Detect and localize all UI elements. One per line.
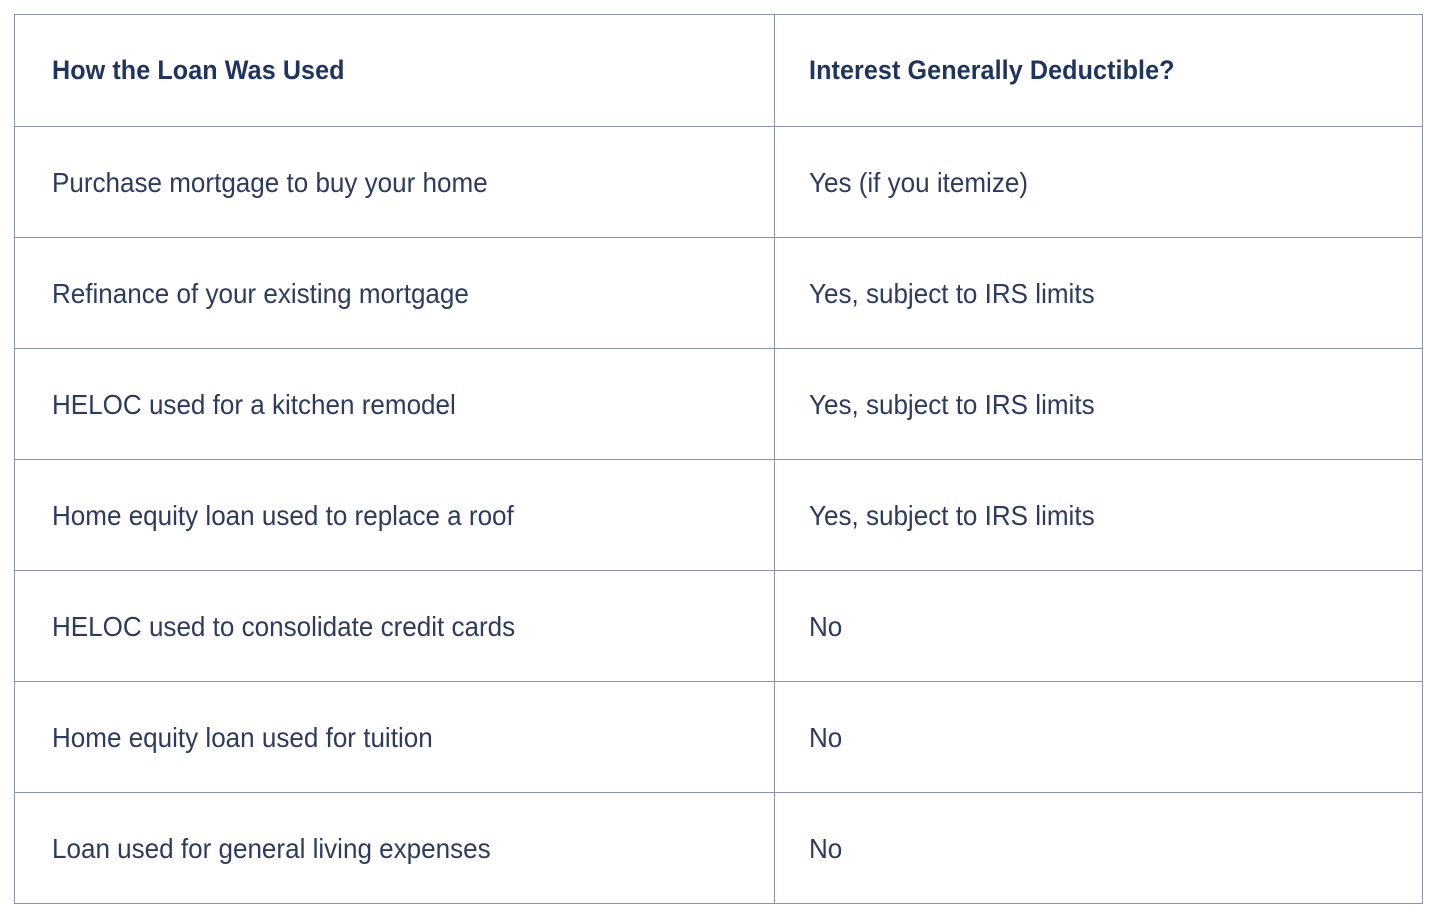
cell-deductible-answer: Yes, subject to IRS limits <box>775 460 1423 571</box>
cell-loan-use: Home equity loan used to replace a roof <box>15 460 775 571</box>
deductibility-table-container: How the Loan Was Used Interest Generally… <box>14 14 1422 895</box>
cell-deductible-answer-text: No <box>809 609 842 644</box>
cell-deductible-answer: No <box>775 682 1423 793</box>
cell-deductible-answer: No <box>775 571 1423 682</box>
table-body: Purchase mortgage to buy your home Yes (… <box>15 127 1423 904</box>
cell-deductible-answer-text: No <box>809 720 842 755</box>
column-header-how-the-loan-was-used: How the Loan Was Used <box>15 15 775 127</box>
cell-loan-use: HELOC used for a kitchen remodel <box>15 349 775 460</box>
cell-deductible-answer-text: Yes, subject to IRS limits <box>809 276 1095 311</box>
cell-loan-use-text: Home equity loan used for tuition <box>52 720 433 755</box>
column-header-interest-generally-deductible: Interest Generally Deductible? <box>775 15 1423 127</box>
cell-loan-use-text: HELOC used to consolidate credit cards <box>52 609 515 644</box>
cell-loan-use-text: HELOC used for a kitchen remodel <box>52 387 456 422</box>
cell-loan-use-text: Purchase mortgage to buy your home <box>52 165 488 200</box>
table-row: Purchase mortgage to buy your home Yes (… <box>15 127 1423 238</box>
table-header: How the Loan Was Used Interest Generally… <box>15 15 1423 127</box>
column-header-interest-generally-deductible-label: Interest Generally Deductible? <box>809 54 1175 86</box>
cell-deductible-answer-text: No <box>809 831 842 866</box>
cell-loan-use: Home equity loan used for tuition <box>15 682 775 793</box>
cell-deductible-answer: No <box>775 793 1423 904</box>
cell-deductible-answer: Yes (if you itemize) <box>775 127 1423 238</box>
cell-loan-use: HELOC used to consolidate credit cards <box>15 571 775 682</box>
cell-deductible-answer: Yes, subject to IRS limits <box>775 349 1423 460</box>
table-row: Home equity loan used for tuition No <box>15 682 1423 793</box>
cell-loan-use: Purchase mortgage to buy your home <box>15 127 775 238</box>
table-row: HELOC used to consolidate credit cards N… <box>15 571 1423 682</box>
cell-deductible-answer-text: Yes, subject to IRS limits <box>809 387 1095 422</box>
cell-loan-use: Refinance of your existing mortgage <box>15 238 775 349</box>
cell-loan-use: Loan used for general living expenses <box>15 793 775 904</box>
table-header-row: How the Loan Was Used Interest Generally… <box>15 15 1423 127</box>
cell-deductible-answer-text: Yes (if you itemize) <box>809 165 1028 200</box>
table-row: HELOC used for a kitchen remodel Yes, su… <box>15 349 1423 460</box>
cell-loan-use-text: Refinance of your existing mortgage <box>52 276 469 311</box>
cell-loan-use-text: Home equity loan used to replace a roof <box>52 498 514 533</box>
column-header-how-the-loan-was-used-label: How the Loan Was Used <box>52 54 345 86</box>
cell-deductible-answer-text: Yes, subject to IRS limits <box>809 498 1095 533</box>
table-row: Refinance of your existing mortgage Yes,… <box>15 238 1423 349</box>
cell-deductible-answer: Yes, subject to IRS limits <box>775 238 1423 349</box>
table-row: Loan used for general living expenses No <box>15 793 1423 904</box>
loan-interest-deductibility-table: How the Loan Was Used Interest Generally… <box>14 14 1423 904</box>
cell-loan-use-text: Loan used for general living expenses <box>52 831 491 866</box>
table-row: Home equity loan used to replace a roof … <box>15 460 1423 571</box>
